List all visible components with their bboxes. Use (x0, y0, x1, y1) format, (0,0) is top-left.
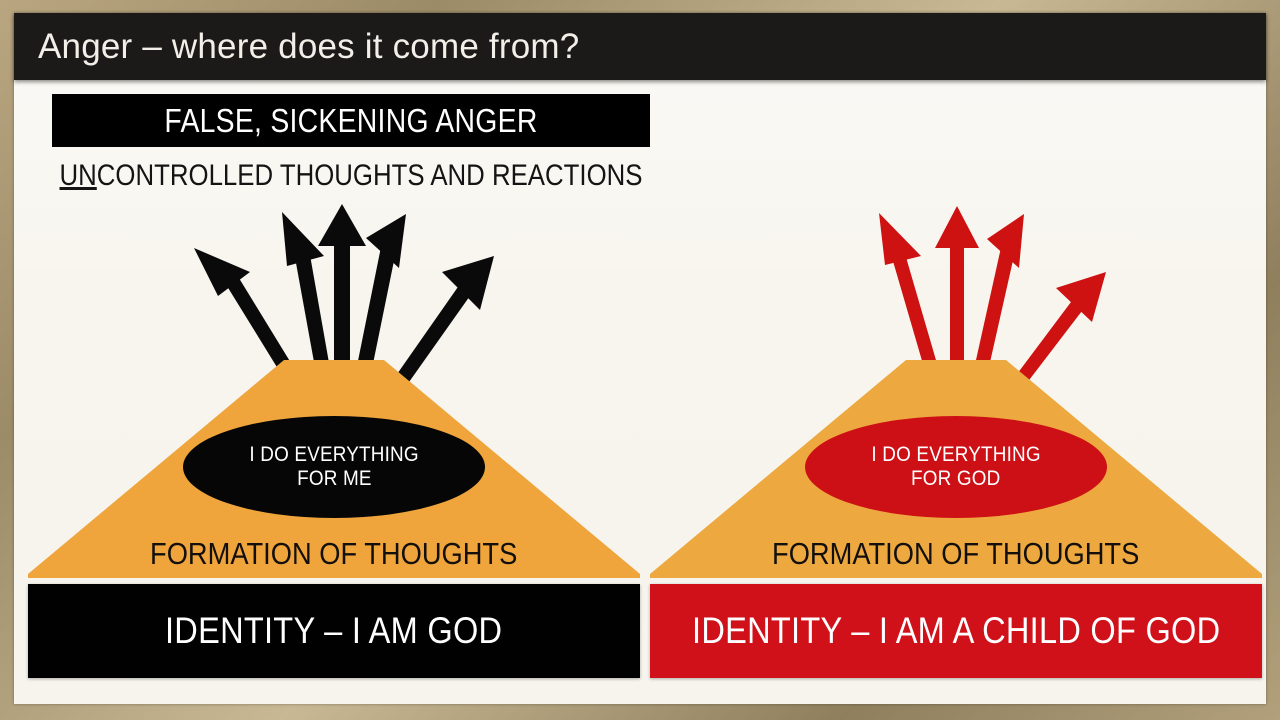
slide-canvas: Anger – where does it come from? FALSE, … (0, 0, 1280, 720)
false-anger-banner: FALSE, SICKENING ANGER (52, 94, 650, 147)
page-title: Anger – where does it come from? (38, 27, 579, 67)
ellipse-line-1: I DO EVERYTHING (871, 443, 1040, 467)
slide-title-bar: Anger – where does it come from? (14, 13, 1266, 80)
identity-bar-god: IDENTITY – I AM A CHILD OF GOD (650, 584, 1262, 678)
ellipse-line-2: FOR ME (297, 467, 372, 491)
formation-of-thoughts-label-self: FORMATION OF THOUGHTS (28, 536, 640, 572)
uncontrolled-rest: CONTROLLED THOUGHTS AND REACTIONS (97, 159, 643, 193)
diagram-panel-god: I DO EVERYTHING FOR GOD FORMATION OF THO… (650, 200, 1262, 690)
identity-label: IDENTITY – I AM GOD (165, 610, 502, 652)
formation-text: FORMATION OF THOUGHTS (772, 536, 1139, 572)
formation-text: FORMATION OF THOUGHTS (150, 536, 517, 572)
false-anger-banner-label: FALSE, SICKENING ANGER (94, 94, 608, 147)
uncontrolled-prefix: UN (60, 159, 97, 193)
identity-core-ellipse-god: I DO EVERYTHING FOR GOD (805, 416, 1107, 518)
uncontrolled-thoughts-subtitle: UNCONTROLLED THOUGHTS AND REACTIONS (94, 156, 608, 196)
diagram-panel-self: I DO EVERYTHING FOR ME FORMATION OF THOU… (28, 200, 640, 690)
ellipse-line-1: I DO EVERYTHING (249, 443, 418, 467)
identity-core-ellipse-self: I DO EVERYTHING FOR ME (183, 416, 485, 518)
formation-of-thoughts-label-god: FORMATION OF THOUGHTS (650, 536, 1262, 572)
identity-label: IDENTITY – I AM A CHILD OF GOD (692, 610, 1220, 652)
ellipse-line-2: FOR GOD (911, 467, 1000, 491)
identity-bar-self: IDENTITY – I AM GOD (28, 584, 640, 678)
